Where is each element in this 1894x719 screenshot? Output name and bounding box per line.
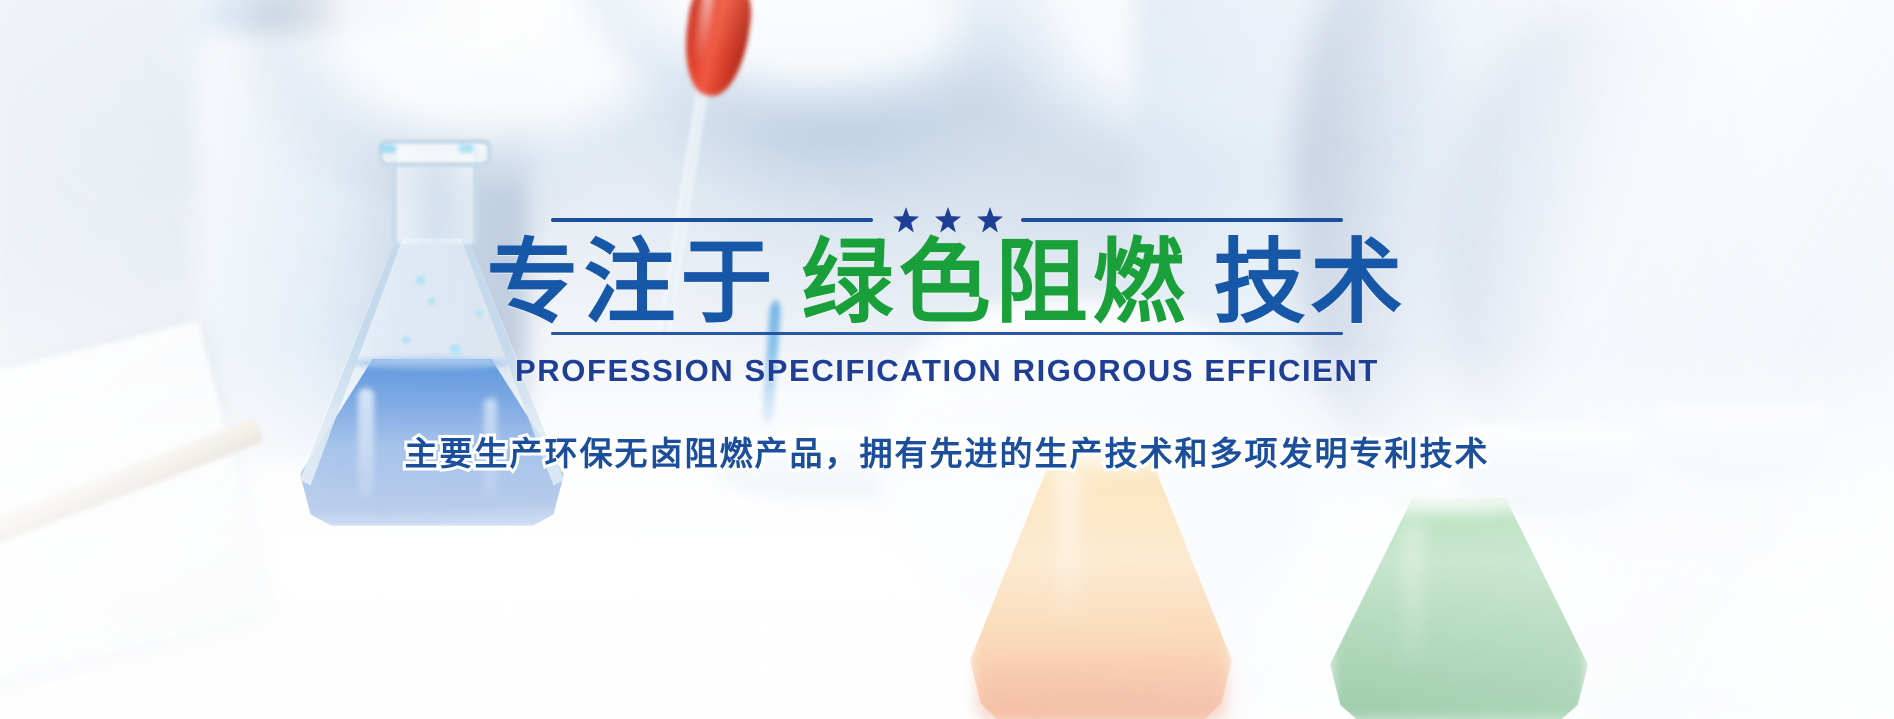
headline-underline bbox=[551, 332, 1343, 335]
star-icon bbox=[935, 207, 961, 233]
headline-part-3: 技术 bbox=[1214, 232, 1408, 334]
headline-part-1: 专注于 bbox=[486, 232, 777, 334]
divider-line-left bbox=[551, 218, 873, 222]
divider-with-stars bbox=[551, 207, 1343, 233]
subtitle: PROFESSION SPECIFICATION RIGOROUS EFFICI… bbox=[515, 353, 1379, 389]
headline: 专注于绿色阻燃技术 bbox=[486, 237, 1407, 329]
tagline: 主要生产环保无卤阻燃产品，拥有先进的生产技术和多项发明专利技术 bbox=[405, 427, 1490, 475]
banner-content: 专注于绿色阻燃技术 PROFESSION SPECIFICATION RIGOR… bbox=[0, 0, 1894, 719]
headline-part-2: 绿色阻燃 bbox=[801, 232, 1189, 334]
star-icon bbox=[977, 207, 1003, 233]
star-group bbox=[893, 207, 1003, 233]
divider-line-right bbox=[1021, 218, 1343, 222]
hero-banner: 专注于绿色阻燃技术 PROFESSION SPECIFICATION RIGOR… bbox=[0, 0, 1894, 719]
star-icon bbox=[893, 207, 919, 233]
